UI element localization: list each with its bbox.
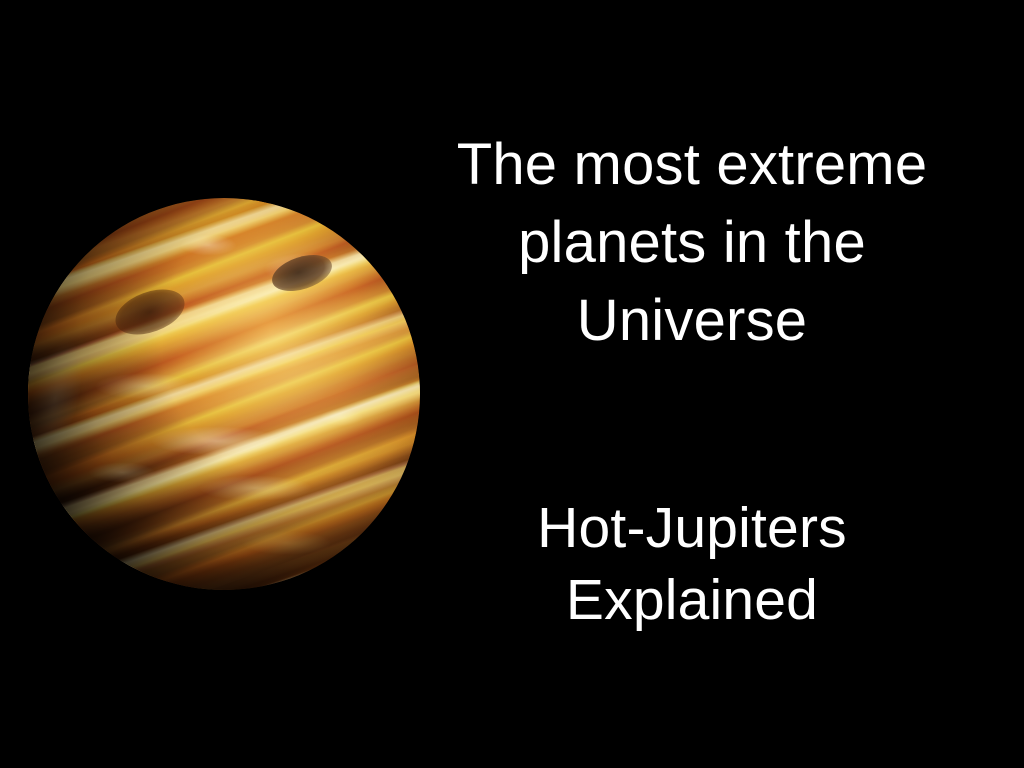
headline-line-2: planets in the xyxy=(392,204,992,282)
title-slide: The most extreme planets in the Universe… xyxy=(0,0,1024,768)
headline-title: The most extreme planets in the Universe xyxy=(392,126,992,360)
subhead-line-1: Hot-Jupiters xyxy=(392,492,992,564)
planet-terminator-shadow xyxy=(28,198,420,590)
gas-giant-planet-image xyxy=(28,198,420,590)
headline-line-3: Universe xyxy=(392,282,992,360)
planet-disc xyxy=(28,198,420,590)
headline-line-1: The most extreme xyxy=(392,126,992,204)
subhead-title: Hot-Jupiters Explained xyxy=(392,492,992,636)
subhead-line-2: Explained xyxy=(392,564,992,636)
text-column: The most extreme planets in the Universe… xyxy=(392,0,992,768)
